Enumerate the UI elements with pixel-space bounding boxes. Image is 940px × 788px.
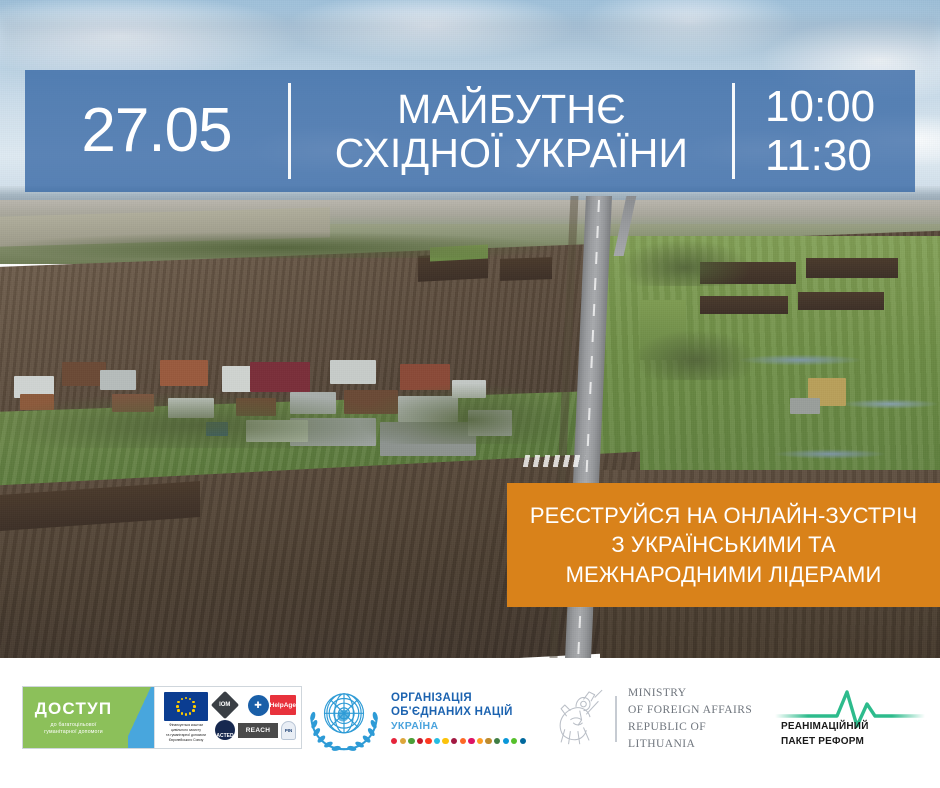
reach-wordmark: REACH bbox=[238, 723, 278, 738]
cta-text: РЕЄСТРУЙСЯ НА ОНЛАЙН-ЗУСТРІЧ З УКРАЇНСЬК… bbox=[520, 501, 927, 589]
sdg-dot bbox=[425, 738, 431, 744]
iom-mark: IOM bbox=[219, 702, 230, 708]
event-time-range: 10:00 11:30 bbox=[735, 82, 915, 181]
event-title-line1: МАЙБУТНЄ bbox=[299, 87, 724, 131]
dostup-subtitle-line2: гуманітарної допомоги bbox=[44, 729, 103, 736]
pin-shield-icon: PIN bbox=[281, 721, 296, 740]
dostup-wedge-accent bbox=[128, 687, 154, 748]
sdg-dot bbox=[442, 738, 448, 744]
who-circle-icon: ✚ bbox=[248, 695, 269, 716]
dostup-green-panel: ДОСТУП до багатоцільової гуманітарної до… bbox=[23, 687, 128, 748]
acted-circle-icon: ACTED bbox=[215, 720, 235, 740]
sdg-dot bbox=[520, 738, 526, 744]
iom-diamond-icon: IOM bbox=[211, 691, 239, 719]
header-divider-right bbox=[732, 83, 735, 179]
header-divider-left bbox=[288, 83, 291, 179]
dostup-subtitle: до багатоцільової гуманітарної допомоги bbox=[44, 722, 103, 737]
partner-logo-helpage: HelpAge bbox=[281, 694, 296, 717]
event-title: МАЙБУТНЄ СХІДНОЇ УКРАЇНИ bbox=[291, 87, 732, 176]
partner-logo-pin: PIN bbox=[281, 719, 296, 742]
event-title-line2: СХІДНОЇ УКРАЇНИ bbox=[299, 131, 724, 175]
registration-cta-banner[interactable]: РЕЄСТРУЙСЯ НА ОНЛАЙН-ЗУСТРІЧ З УКРАЇНСЬК… bbox=[507, 483, 940, 607]
rpr-line1: РЕАНІМАЦІЙНИЙ bbox=[781, 720, 869, 735]
un-emblem-icon bbox=[305, 682, 383, 754]
sdg-dot bbox=[400, 738, 406, 744]
dostup-wordmark: ДОСТУП bbox=[35, 699, 113, 719]
event-header-banner: 27.05 МАЙБУТНЄ СХІДНОЇ УКРАЇНИ 10:00 11:… bbox=[25, 70, 915, 192]
event-time-start: 10:00 bbox=[765, 82, 915, 131]
eu-flag-icon bbox=[164, 692, 208, 721]
un-line1: ОРГАНІЗАЦІЯ bbox=[391, 691, 526, 705]
sdg-dot bbox=[460, 738, 466, 744]
lithuania-line2: OF FOREIGN AFFAIRS bbox=[628, 702, 763, 719]
eu-funding-caption: Фінансується коштом цивільного захисту т… bbox=[166, 723, 206, 743]
rpr-wordmark: РЕАНІМАЦІЙНИЙ ПАКЕТ РЕФОРМ bbox=[781, 720, 869, 749]
dostup-partners-panel: Фінансується коштом цивільного захисту т… bbox=[154, 687, 301, 748]
un-line3: УКРАЇНА bbox=[391, 720, 526, 732]
cta-line1: РЕЄСТРУЙСЯ НА ОНЛАЙН-ЗУСТРІЧ bbox=[530, 501, 917, 530]
sdg-dot bbox=[494, 738, 500, 744]
event-poster: 27.05 МАЙБУТНЄ СХІДНОЇ УКРАЇНИ 10:00 11:… bbox=[0, 0, 940, 788]
partner-logo-iom: IOM bbox=[215, 694, 235, 717]
lithuania-line3: REPUBLIC OF LITHUANIA bbox=[628, 719, 763, 754]
sdg-dot bbox=[408, 738, 414, 744]
sdg-dot bbox=[511, 738, 517, 744]
un-line2: ОБ'ЄДНАНИХ НАЦІЙ bbox=[391, 705, 526, 719]
vytis-knight-icon bbox=[548, 688, 604, 750]
sdg-dot bbox=[451, 738, 457, 744]
sdg-dot bbox=[417, 738, 423, 744]
event-time-end: 11:30 bbox=[765, 131, 915, 180]
eu-funding-block: Фінансується коштом цивільного захисту т… bbox=[162, 692, 210, 743]
rpr-line2: ПАКЕТ РЕФОРМ bbox=[781, 735, 869, 750]
sdg-dot bbox=[468, 738, 474, 744]
sdg-dot bbox=[503, 738, 509, 744]
partner-logo-reach: REACH bbox=[238, 719, 278, 742]
un-wordmark: ОРГАНІЗАЦІЯ ОБ'ЄДНАНИХ НАЦІЙ УКРАЇНА bbox=[383, 691, 526, 744]
un-ukraine-logo: ОРГАНІЗАЦІЯ ОБ'ЄДНАНИХ НАЦІЙ УКРАЇНА bbox=[305, 680, 533, 755]
cta-line3: МЕЖНАРОДНИМИ ЛІДЕРАМИ bbox=[530, 560, 917, 589]
sdg-color-dots bbox=[391, 738, 526, 744]
rpr-logo: РЕАНІМАЦІЙНИЙ ПАКЕТ РЕФОРМ bbox=[775, 688, 925, 750]
dostup-logo: ДОСТУП до багатоцільової гуманітарної до… bbox=[22, 686, 302, 749]
sdg-dot bbox=[477, 738, 483, 744]
cta-line2: З УКРАЇНСЬКИМИ ТА bbox=[530, 530, 917, 559]
event-date: 27.05 bbox=[25, 100, 288, 162]
helpage-wordmark: HelpAge bbox=[270, 695, 296, 715]
lithuania-divider bbox=[615, 696, 617, 742]
eu-caption-line4: Європейського Союзу bbox=[166, 738, 206, 743]
partner-logo-grid: IOM ✚ HelpAge ACTED REACH PIN bbox=[210, 694, 296, 742]
lithuania-mfa-logo: MINISTRY OF FOREIGN AFFAIRS REPUBLIC OF … bbox=[548, 686, 763, 752]
dostup-subtitle-line1: до багатоцільової bbox=[44, 722, 103, 729]
sdg-dot bbox=[485, 738, 491, 744]
sdg-dot bbox=[434, 738, 440, 744]
sdg-dot bbox=[391, 738, 397, 744]
partner-logo-acted: ACTED bbox=[215, 719, 235, 742]
lithuania-wordmark: MINISTRY OF FOREIGN AFFAIRS REPUBLIC OF … bbox=[628, 685, 763, 754]
lithuania-line1: MINISTRY bbox=[628, 685, 763, 702]
